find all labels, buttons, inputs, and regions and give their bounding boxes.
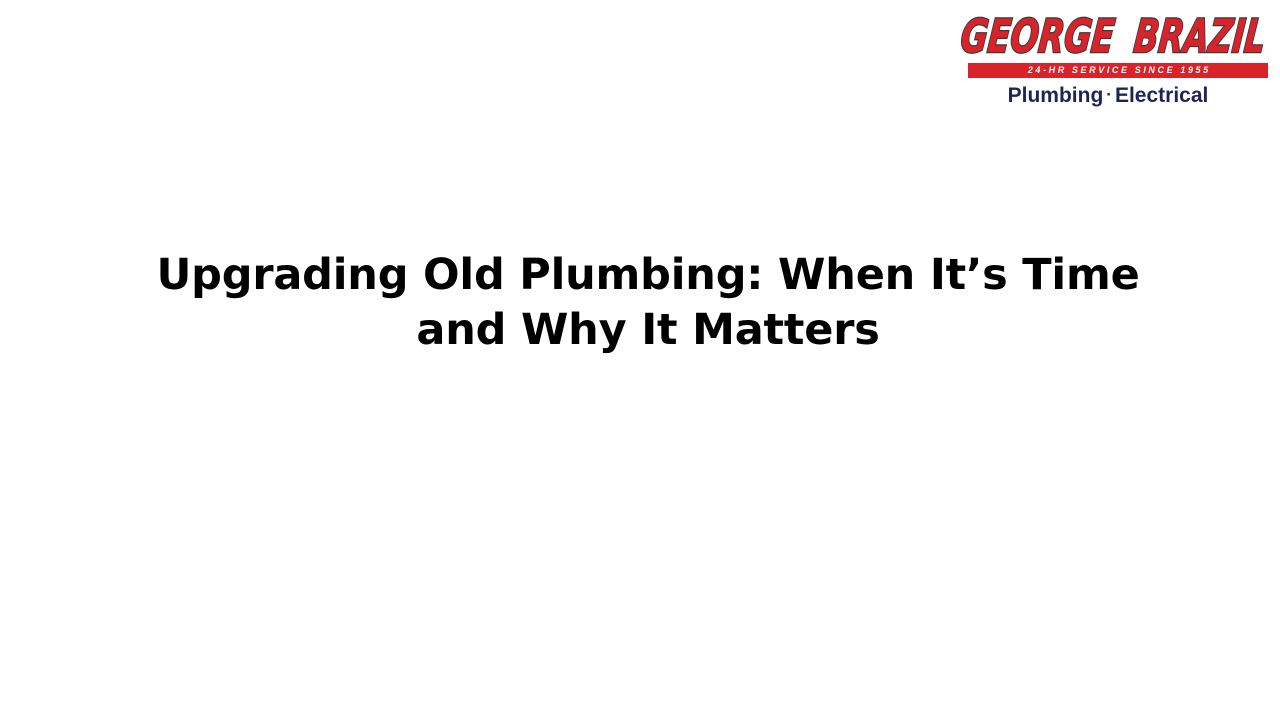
logo-service-banner: 24-HR SERVICE SINCE 1955 — [968, 63, 1268, 78]
logo-wordmark-first: GEORGE — [958, 10, 1117, 64]
page-title-line-1: Upgrading Old Plumbing: When It’s Time — [140, 248, 1156, 303]
logo-wordmark: GEORGE BRAZIL — [943, 8, 1273, 66]
logo-tagline: Plumbing·Electrical — [943, 82, 1273, 109]
page-title-line-2: and Why It Matters — [140, 303, 1156, 358]
slide-canvas: GEORGE BRAZIL 24-HR SERVICE SINCE 1955 P… — [0, 0, 1280, 720]
logo-tagline-plumbing: Plumbing — [1008, 84, 1104, 107]
company-logo: GEORGE BRAZIL 24-HR SERVICE SINCE 1955 P… — [943, 8, 1273, 108]
logo-tagline-separator: · — [1103, 85, 1115, 104]
logo-service-banner-text: 24-HR SERVICE SINCE 1955 — [968, 63, 1268, 78]
logo-wordmark-second: BRAZIL — [1131, 10, 1268, 64]
page-title: Upgrading Old Plumbing: When It’s Time a… — [140, 248, 1156, 358]
logo-tagline-electrical: Electrical — [1115, 84, 1208, 107]
